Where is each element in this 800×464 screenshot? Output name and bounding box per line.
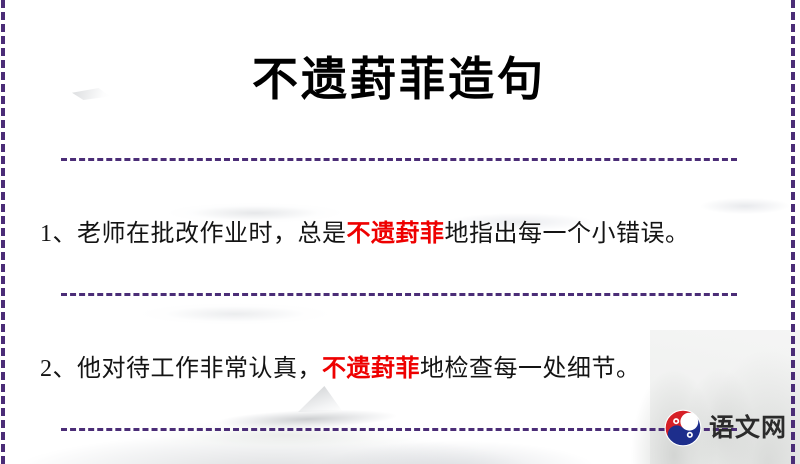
sentence-item-1: 1、老师在批改作业时，总是不遗葑菲地指出每一个小错误。 (20, 199, 778, 269)
sentence-text-after-2: 地检查每一处细节。 (420, 356, 641, 382)
spacer-1 (20, 161, 778, 175)
site-logo[interactable]: 语文网 (664, 409, 787, 447)
sentence-text-before-2: 他对待工作非常认真， (77, 356, 322, 382)
sentence-text-after-1: 地指出每一个小错误。 (445, 221, 690, 247)
sentence-number-1: 1、 (40, 221, 77, 247)
sentence-item-2: 2、他对待工作非常认真，不遗葑菲地检查每一处细节。 (20, 334, 778, 404)
site-logo-text: 语文网 (709, 416, 787, 441)
sentence-text-before-1: 老师在批改作业时，总是 (77, 221, 347, 247)
spacer-2 (20, 296, 778, 310)
idiom-highlight-2: 不遗葑菲 (322, 356, 420, 382)
page-root: 不遗葑菲造句 1、老师在批改作业时，总是不遗葑菲地指出每一个小错误。 2、他对待… (0, 0, 800, 464)
idiom-highlight-1: 不遗葑菲 (347, 221, 445, 247)
content-area: 不遗葑菲造句 1、老师在批改作业时，总是不遗葑菲地指出每一个小错误。 2、他对待… (0, 31, 800, 464)
frame-border-left (1, 0, 5, 464)
page-title: 不遗葑菲造句 (20, 31, 778, 127)
yin-yang-fish-icon (664, 409, 702, 447)
sentence-number-2: 2、 (40, 356, 77, 382)
frame-border-right (791, 0, 795, 464)
